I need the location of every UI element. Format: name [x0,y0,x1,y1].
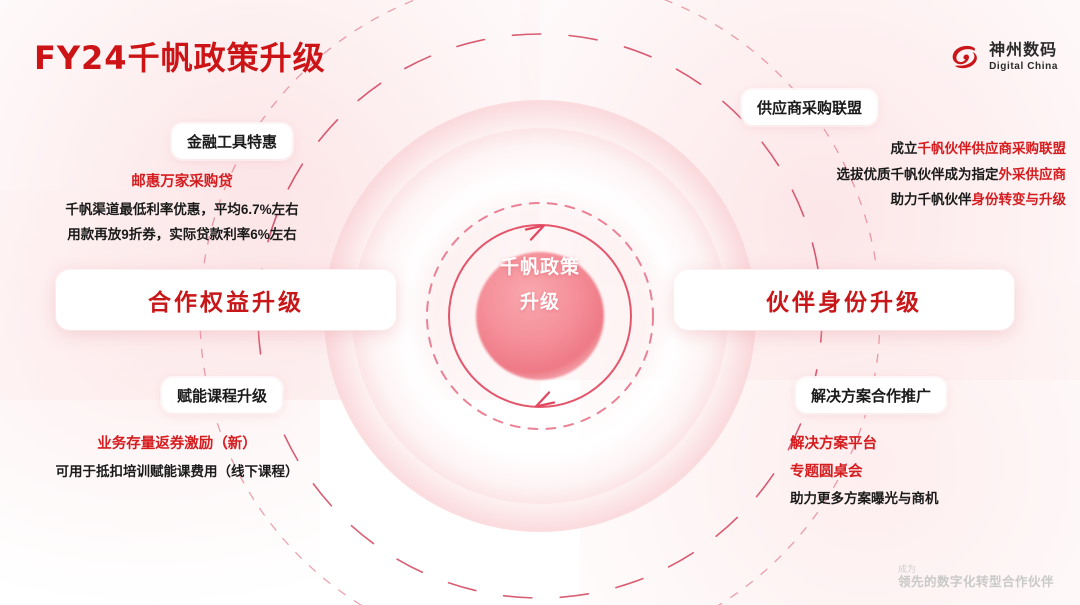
watermark: 成为 领先的数字化转型合作伙伴 [898,564,1054,591]
tr-line-3-pre: 助力千帆伙伴 [891,192,972,207]
tr-line-1: 成立千帆伙伴供应商采购联盟 [750,142,1066,156]
tag-financial-tools: 金融工具特惠 [172,124,292,159]
pill-partnership-benefits-upgrade[interactable]: 合作权益升级 [56,270,396,330]
br-line-1: 解决方案平台 [790,437,1070,452]
digital-china-swirl-icon [948,40,982,74]
block-bottom-right: 解决方案平台 专题圆桌会 助力更多方案曝光与商机 [790,437,1070,506]
bl-line-1: 业务存量返券激励（新） [14,437,340,452]
tag-supplier-alliance: 供应商采购联盟 [742,90,877,125]
logo-name-cn: 神州数码 [989,43,1058,59]
tag-enablement-courses: 赋能课程升级 [162,378,282,413]
center-label-line2: 升级 [460,293,620,312]
logo-text: 神州数码 Digital China [989,43,1058,72]
block-bottom-left: 业务存量返券激励（新） 可用于抵扣培训赋能课费用（线下课程） [14,437,340,478]
br-line-2: 专题圆桌会 [790,465,1070,480]
center-label-line1: 千帆政策 [500,257,580,278]
watermark-line2: 领先的数字化转型合作伙伴 [898,575,1054,591]
pill-partner-identity-upgrade[interactable]: 伙伴身份升级 [674,270,1014,330]
tr-line-2: 选拔优质千帆伙伴成为指定外采供应商 [750,168,1066,182]
center-core-label: 千帆政策 升级 [460,258,620,312]
watermark-line1: 成为 [898,564,1054,575]
tr-line-2-pre: 选拔优质千帆伙伴成为指定 [837,167,999,182]
tl-line-3: 用款再放9折券，实际贷款利率6%左右 [24,228,340,242]
tr-line-1-highlight: 千帆伙伴供应商采购联盟 [918,141,1067,156]
tr-line-3: 助力千帆伙伴身份转变与升级 [750,193,1066,207]
block-top-right: 成立千帆伙伴供应商采购联盟 选拔优质千帆伙伴成为指定外采供应商 助力千帆伙伴身份… [750,142,1066,207]
tl-line-1: 邮惠万家采购贷 [24,175,340,190]
block-top-left: 邮惠万家采购贷 千帆渠道最低利率优惠，平均6.7%左右 用款再放9折券，实际贷款… [24,175,340,242]
tr-line-2-highlight: 外采供应商 [999,167,1067,182]
slide-canvas: 千帆政策 升级 FY24千帆政策升级 神州数码 Digital China 金融… [0,0,1080,605]
bl-line-2: 可用于抵扣培训赋能课费用（线下课程） [14,465,340,479]
tl-line-2: 千帆渠道最低利率优惠，平均6.7%左右 [24,203,340,217]
tr-line-1-pre: 成立 [891,141,918,156]
brand-logo: 神州数码 Digital China [948,40,1058,74]
page-title: FY24千帆政策升级 [34,33,326,79]
tag-solution-promotion: 解决方案合作推广 [796,378,946,413]
br-line-3: 助力更多方案曝光与商机 [790,492,1070,506]
logo-name-en: Digital China [989,62,1058,72]
tr-line-3-highlight: 身份转变与升级 [972,192,1067,207]
